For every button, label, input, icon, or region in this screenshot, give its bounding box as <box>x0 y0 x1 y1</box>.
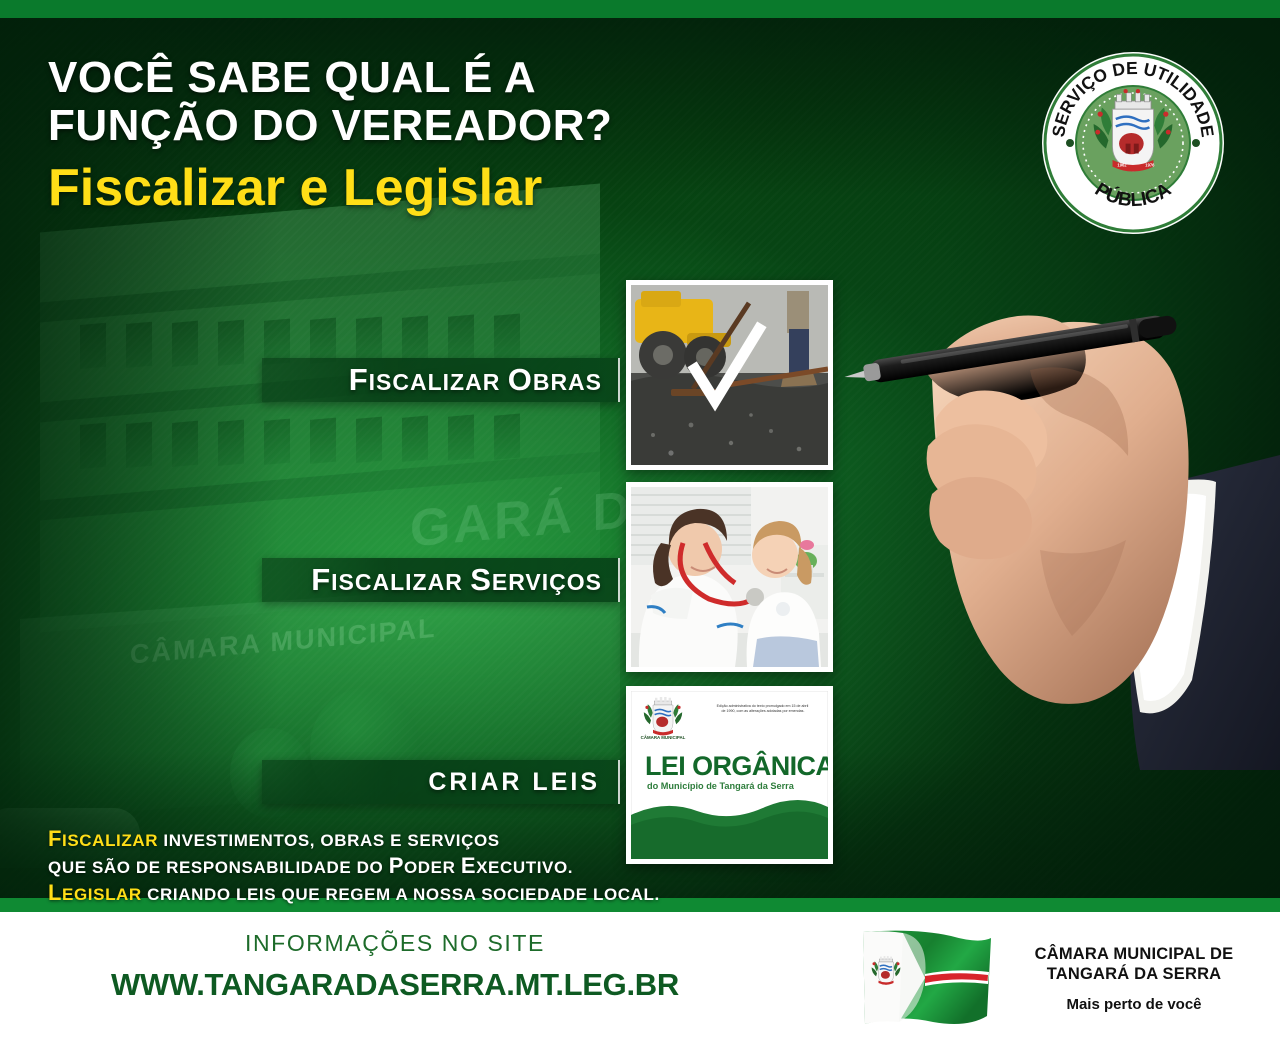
svg-text:1962: 1962 <box>1117 163 1127 168</box>
copy-line-1: FISCALIZAR INVESTIMENTOS, OBRAS E SERVIÇ… <box>48 826 660 853</box>
website-url[interactable]: WWW.TANGARADASERRA.MT.LEG.BR <box>0 967 790 1003</box>
label-bar-text: FISCALIZAR SERVIÇOS <box>311 562 602 598</box>
svg-text:Edição administrativa do texto: Edição administrativa do texto promulgad… <box>717 704 810 713</box>
info-label: INFORMAÇÕES NO SITE <box>0 930 790 957</box>
photo-card-servicos[interactable] <box>626 482 833 672</box>
main-stage: GARÁ DA CÂMARA MUNICIPAL <box>0 18 1280 912</box>
brand-tagline: Mais perto de você <box>1005 996 1263 1013</box>
headline-accent: Fiscalizar e Legislar <box>48 158 748 218</box>
copy-line-3: LEGISLAR CRIANDO LEIS QUE REGEM A NOSSA … <box>48 880 660 907</box>
book-crest-caption: CÂMARA MUNICIPAL <box>641 735 686 740</box>
body-copy-block: FISCALIZAR INVESTIMENTOS, OBRAS E SERVIÇ… <box>48 826 660 907</box>
headline-block: VOCÊ SABE QUAL É A FUNÇÃO DO VEREADOR? F… <box>48 54 748 218</box>
book-subtitle: do Município de Tangará da Serra <box>647 781 795 791</box>
poster-canvas: GARÁ DA CÂMARA MUNICIPAL <box>0 0 1280 1044</box>
copy-line-2: QUE SÃO DE RESPONSABILIDADE DO PODER EXE… <box>48 853 660 880</box>
label-bar-criar-leis[interactable]: CRIAR LEIS <box>262 760 620 804</box>
book-title: LEI ORGÂNICA <box>645 750 828 781</box>
brand-block: CÂMARA MUNICIPAL DE TANGARÁ DA SERRA Mai… <box>855 922 1265 1036</box>
label-bar-fiscalizar-servicos[interactable]: FISCALIZAR SERVIÇOS <box>262 558 620 602</box>
headline-line-2: FUNÇÃO DO VEREADOR? <box>48 102 748 150</box>
servico-utilidade-publica-seal: SERVIÇO DE UTILIDADE PÚBLICA <box>1040 50 1226 236</box>
hand-with-pen-illustration <box>840 250 1280 770</box>
label-bar-text: CRIAR LEIS <box>428 768 600 797</box>
label-bar-fiscalizar-obras[interactable]: FISCALIZAR OBRAS <box>262 358 620 402</box>
photo-card-obras[interactable] <box>626 280 833 470</box>
footer-bar: INFORMAÇÕES NO SITE WWW.TANGARADASERRA.M… <box>0 912 1280 1044</box>
brand-line-2: TANGARÁ DA SERRA <box>1005 964 1263 984</box>
brand-line-1: CÂMARA MUNICIPAL DE <box>1005 944 1263 964</box>
top-accent-strip <box>0 0 1280 18</box>
brand-text-block: CÂMARA MUNICIPAL DE TANGARÁ DA SERRA Mai… <box>1005 944 1263 1013</box>
svg-text:1976: 1976 <box>1145 163 1155 168</box>
municipal-flag-icon <box>855 928 995 1032</box>
headline-line-1: VOCÊ SABE QUAL É A <box>48 54 748 102</box>
website-block: INFORMAÇÕES NO SITE WWW.TANGARADASERRA.M… <box>0 930 790 1003</box>
label-bar-text: FISCALIZAR OBRAS <box>349 362 602 398</box>
